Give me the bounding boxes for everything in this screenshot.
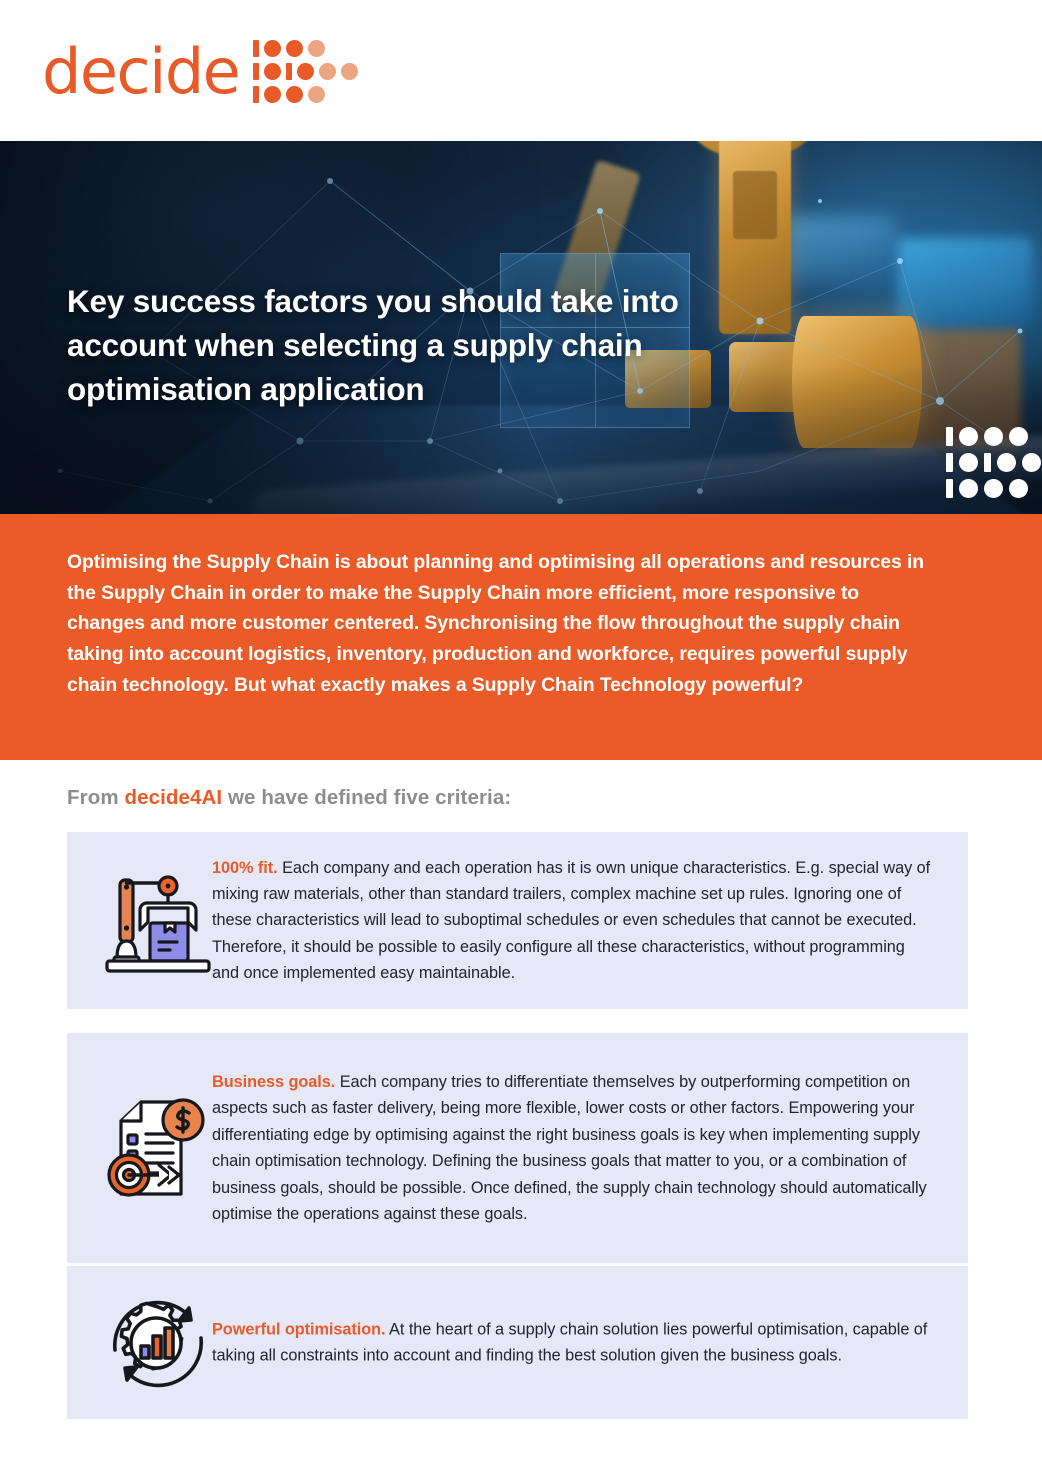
logo-dot-row [253,40,358,57]
criteria-intro-prefix: From [67,786,124,809]
intro-orange-band: Optimising the Supply Chain is about pla… [0,514,1042,760]
criteria-intro-brand: decide4AI [124,786,222,809]
logo-dot-row [253,63,358,80]
criteria-card-lead: Powerful optimisation. [212,1320,385,1338]
criteria-intro-heading: From decide4AI we have defined five crit… [67,786,511,810]
criteria-card-description: Each company and each operation has it i… [212,859,930,983]
robotic-arm-box-icon [95,858,221,984]
criteria-intro-suffix: we have defined five criteria: [222,786,511,809]
decide-dot-matrix-logo-icon [253,40,358,103]
criteria-card-text: Business goals. Each company tries to di… [212,1069,934,1227]
decide-dot-matrix-watermark-icon [946,427,1042,498]
gear-bar-chart-cycle-icon [95,1280,221,1406]
criteria-card-description: Each company tries to differentiate them… [212,1073,927,1223]
document-page: decide [0,0,1042,1479]
document-dollar-target-icon [95,1085,221,1211]
logo-dot-row [253,86,358,103]
decide-logo[interactable]: decide [42,36,358,103]
intro-paragraph: Optimising the Supply Chain is about pla… [67,547,939,700]
hero-title: Key success factors you should take into… [67,279,707,411]
hero-banner: Key success factors you should take into… [0,141,1042,514]
logo-wordmark: decide [42,41,239,103]
criteria-card: Powerful optimisation. At the heart of a… [67,1266,968,1419]
criteria-card-text: Powerful optimisation. At the heart of a… [212,1316,934,1369]
criteria-card: 100% fit. Each company and each operatio… [67,832,968,1009]
page-header: decide [0,0,1042,141]
criteria-card-lead: Business goals. [212,1073,335,1091]
criteria-card-lead: 100% fit. [212,859,278,877]
criteria-card-text: 100% fit. Each company and each operatio… [212,855,934,987]
criteria-card: Business goals. Each company tries to di… [67,1033,968,1263]
